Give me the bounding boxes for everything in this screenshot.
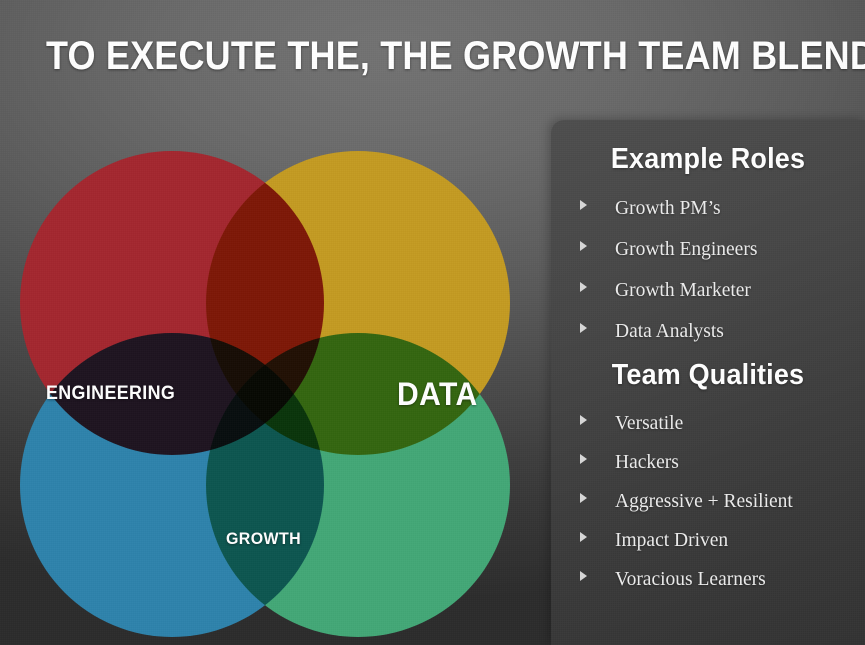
list-item-label: Impact Driven <box>615 530 728 552</box>
list-item-label: Growth Marketer <box>615 280 751 302</box>
list-item[interactable]: Data Analysts <box>551 321 865 343</box>
list-item-label: Voracious Learners <box>615 569 766 591</box>
list-item[interactable]: Versatile <box>551 413 865 435</box>
triangle-right-icon <box>580 323 587 333</box>
triangle-right-icon <box>580 493 587 503</box>
list-item[interactable]: Voracious Learners <box>551 569 865 591</box>
triangle-right-icon <box>580 571 587 581</box>
slide-canvas: TO EXECUTE THE, THE GROWTH TEAM BLENDS… … <box>0 0 865 645</box>
page-title: TO EXECUTE THE, THE GROWTH TEAM BLENDS… <box>46 33 865 79</box>
list-item-label: Aggressive + Resilient <box>615 491 793 513</box>
list-item[interactable]: Growth Marketer <box>551 280 865 302</box>
venn-label-engineering: ENGINEERING <box>46 383 175 405</box>
list-item-label: Versatile <box>615 413 683 435</box>
list-item[interactable]: Growth Engineers <box>551 239 865 261</box>
list-item-label: Data Analysts <box>615 321 724 343</box>
info-panel: Example Roles Growth PM’s Growth Enginee… <box>551 120 865 645</box>
team-qualities-list: Versatile Hackers Aggressive + Resilient… <box>551 413 865 591</box>
triangle-right-icon <box>580 415 587 425</box>
list-item[interactable]: Growth PM’s <box>551 198 865 220</box>
triangle-right-icon <box>580 241 587 251</box>
triangle-right-icon <box>580 282 587 292</box>
venn-label-data: DATA <box>397 376 478 413</box>
list-item[interactable]: Hackers <box>551 452 865 474</box>
section-heading-team-qualities: Team Qualities <box>562 359 854 392</box>
example-roles-list: Growth PM’s Growth Engineers Growth Mark… <box>551 198 865 343</box>
triangle-right-icon <box>580 454 587 464</box>
list-item-label: Growth Engineers <box>615 239 757 261</box>
venn-diagram: ENGINEERING DATA DESIGN MARKETING GROWTH <box>0 140 540 645</box>
list-item[interactable]: Aggressive + Resilient <box>551 491 865 513</box>
triangle-right-icon <box>580 200 587 210</box>
list-item-label: Hackers <box>615 452 679 474</box>
venn-label-growth: GROWTH <box>226 529 301 549</box>
list-item-label: Growth PM’s <box>615 198 721 220</box>
triangle-right-icon <box>580 532 587 542</box>
list-item[interactable]: Impact Driven <box>551 530 865 552</box>
section-heading-example-roles: Example Roles <box>562 143 854 176</box>
